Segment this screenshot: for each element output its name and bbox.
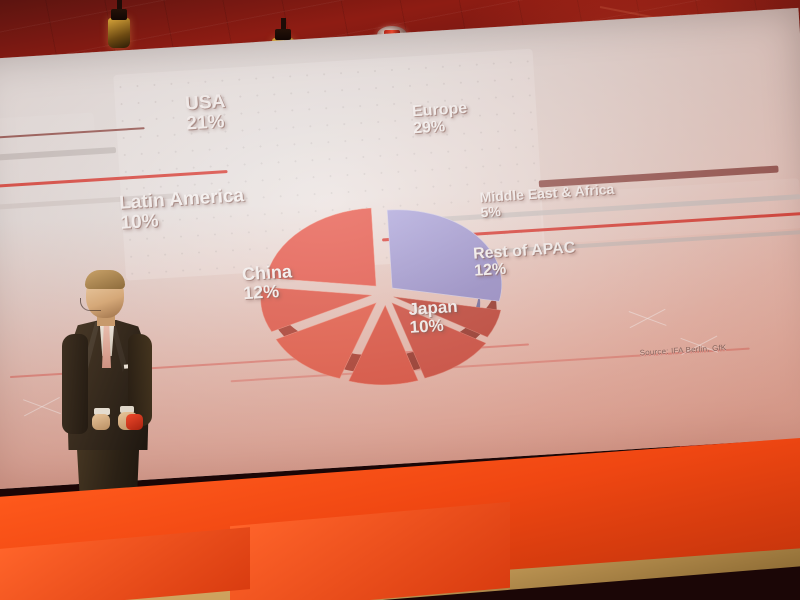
- conference-stage-photo: IFA CONSUMER ELECTRONICS UNLIMITED: [0, 0, 800, 600]
- presenter-hand-left: [92, 414, 110, 430]
- presenter-hair: [85, 270, 125, 289]
- presenter-headset-microphone: [80, 298, 101, 311]
- presenter-arm-left: [62, 334, 88, 434]
- presenter-handheld-object: [126, 414, 143, 430]
- stage-spotlight: [108, 18, 130, 48]
